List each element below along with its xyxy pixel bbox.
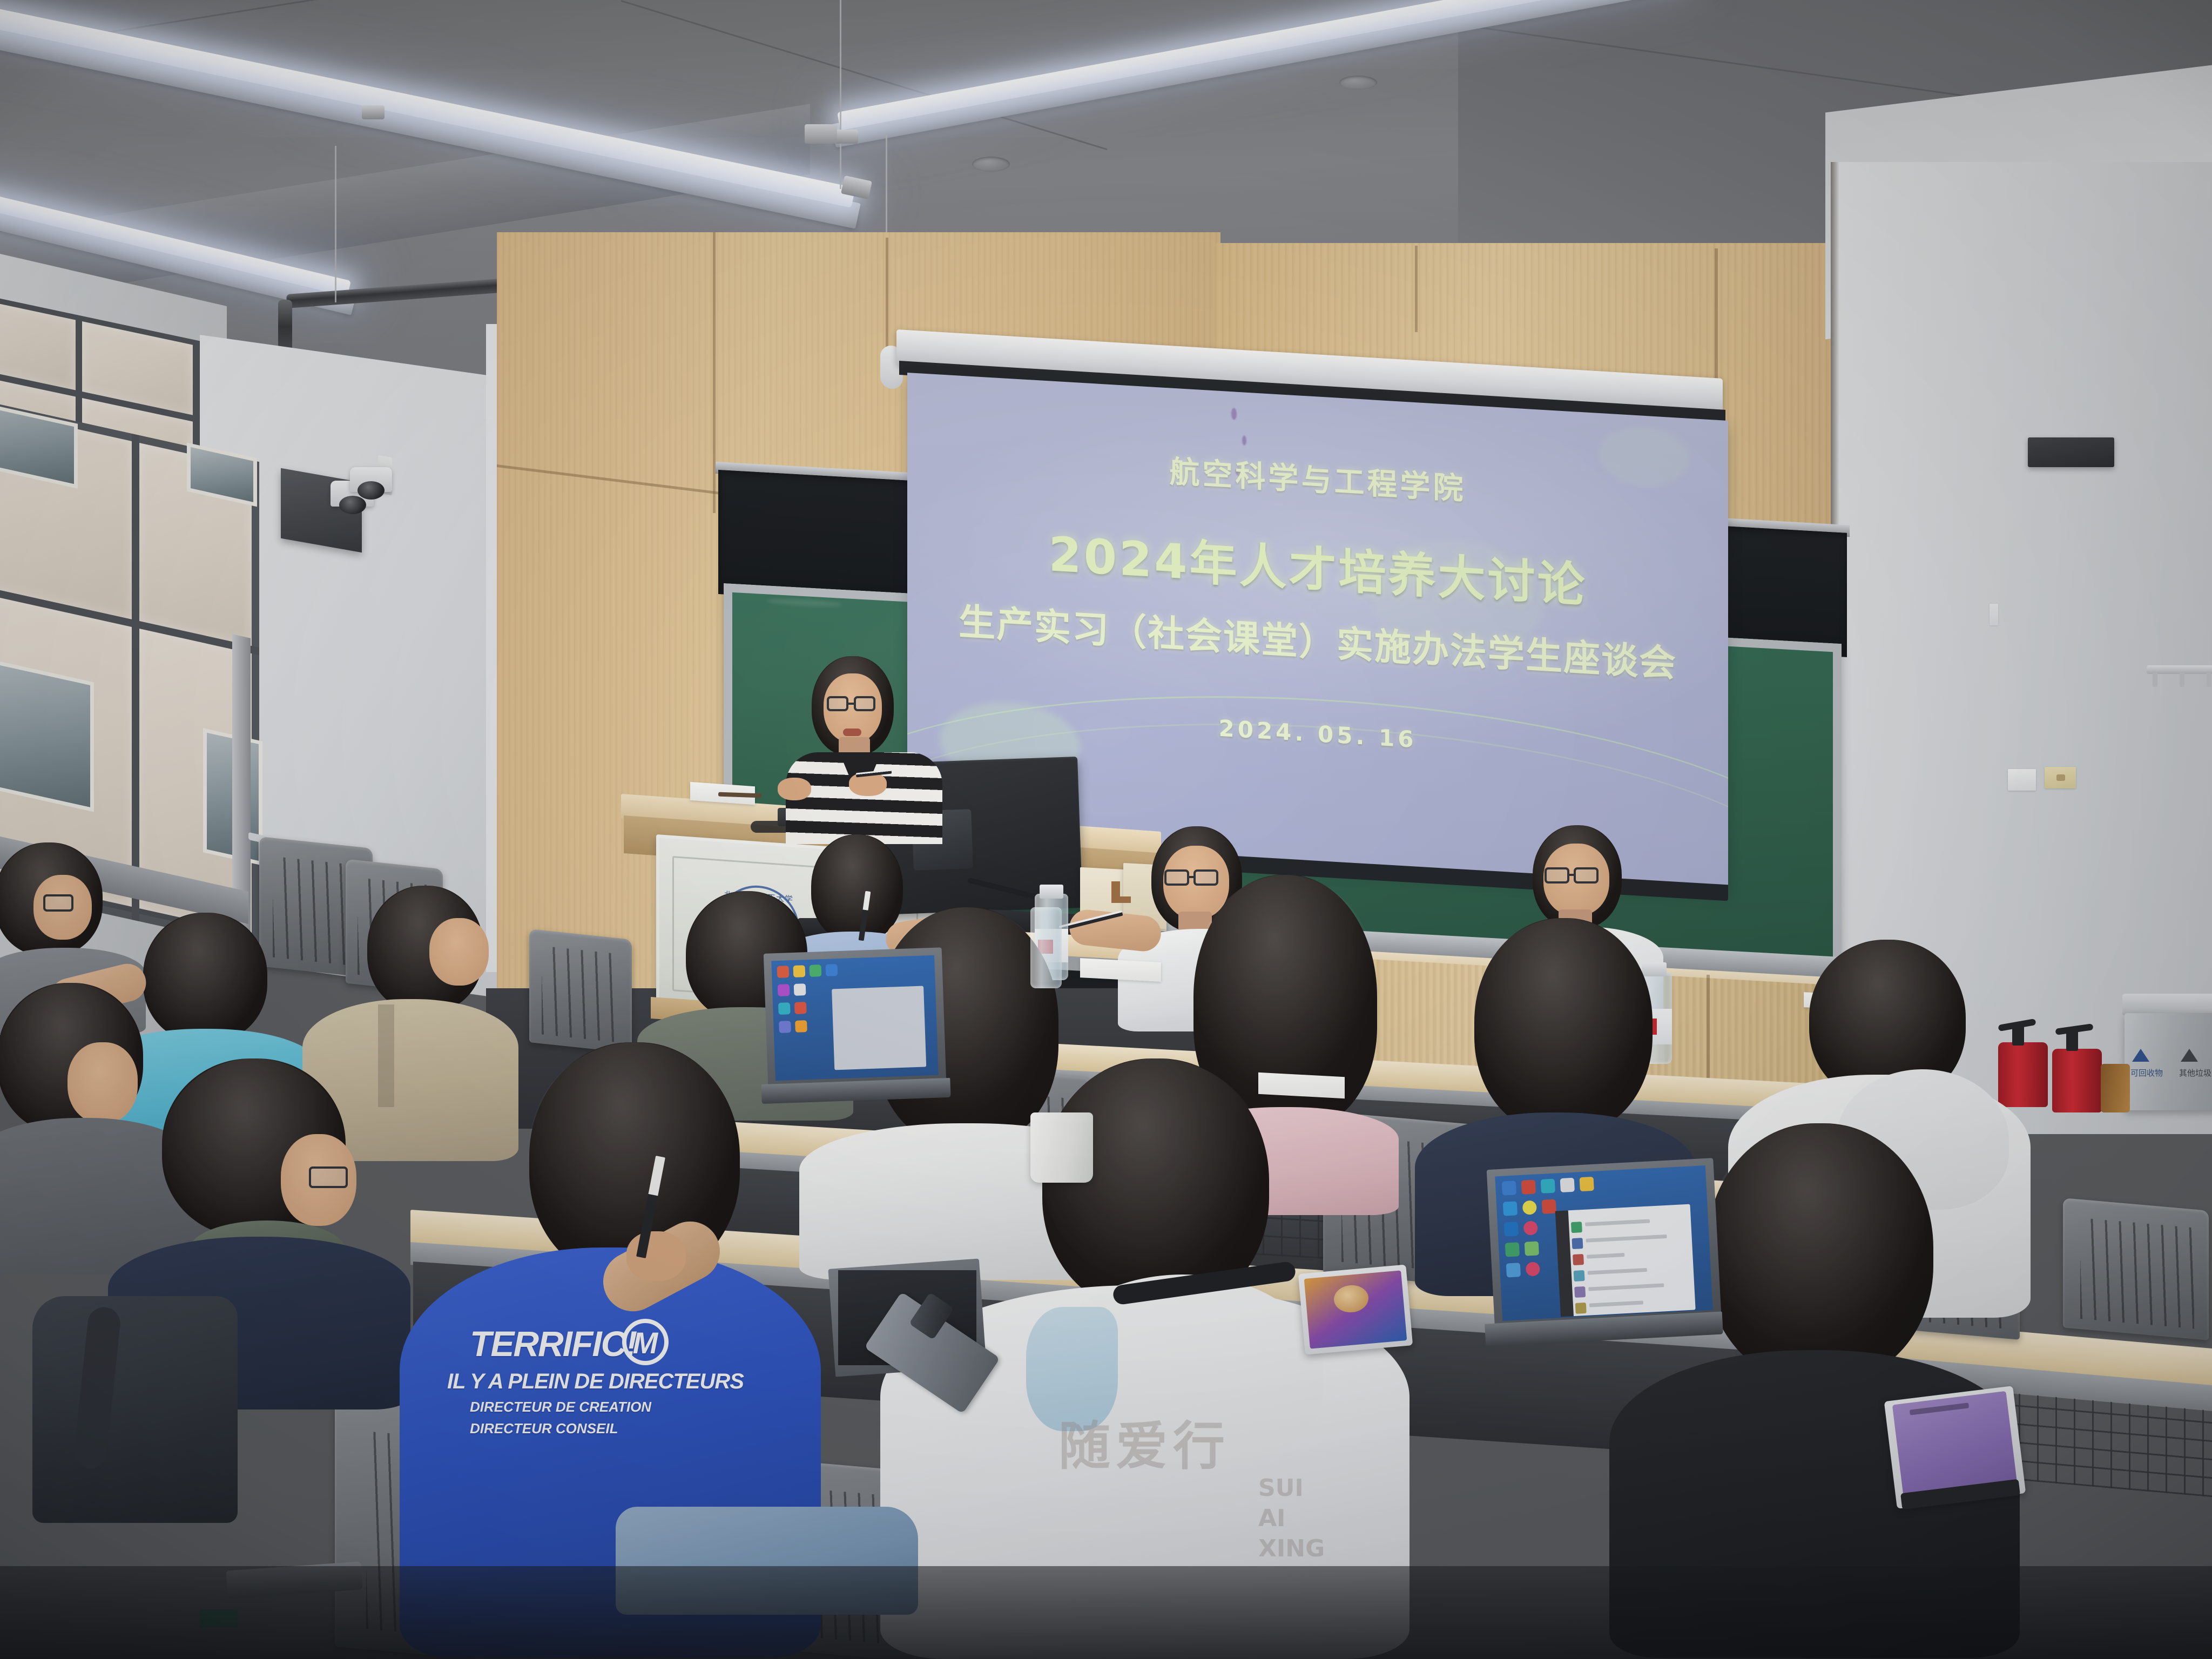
hair-highlight [1809, 940, 1966, 1091]
floor-bottom [0, 1566, 2212, 1659]
jacket-latin-2: AI [1258, 1505, 1285, 1532]
glasses-right [309, 1166, 348, 1188]
chat-row[interactable] [1587, 1253, 1624, 1259]
laptop-screen[interactable] [1495, 1165, 1712, 1321]
ceiling-access-plate [1339, 76, 1377, 90]
recycle-icon [2181, 1049, 2198, 1062]
paper-cup[interactable] [1030, 1112, 1093, 1183]
desktop-icon[interactable] [777, 966, 790, 978]
bin-label-right: 其他垃圾 [2175, 1067, 2212, 1078]
presenter-glasses-right [854, 696, 875, 711]
glasses-right [1574, 867, 1599, 884]
glasses-bridge [1568, 874, 1575, 876]
chat-avatar [1572, 1238, 1583, 1249]
desktop-icon[interactable] [1523, 1220, 1538, 1235]
jacket-latin-1: SUI [1258, 1474, 1304, 1502]
jacket-faint-chinese-text: 随爱行 [1058, 1404, 1230, 1479]
glasses-right [43, 894, 73, 912]
slide-speck [1242, 435, 1246, 445]
chat-avatar [1573, 1254, 1584, 1265]
shirt-text-line2: IL Y A PLEIN DE DIRECTEURS [447, 1370, 744, 1394]
amber-bottle [2101, 1064, 2130, 1112]
desktop-icon[interactable] [1526, 1262, 1540, 1276]
desktop-icon[interactable] [778, 984, 790, 996]
ceiling-hanger-wire [335, 146, 336, 302]
chair-slots [2080, 1218, 2194, 1329]
wall-switch-plate[interactable] [1990, 604, 1998, 625]
chat-row[interactable] [1586, 1235, 1667, 1243]
face [429, 918, 489, 986]
chat-row[interactable] [1588, 1268, 1647, 1275]
chat-app-window[interactable] [1566, 1204, 1696, 1317]
fire-extinguisher [2052, 1049, 2102, 1112]
desktop-icon[interactable] [778, 1002, 791, 1015]
student-hand [626, 1231, 686, 1281]
chat-row[interactable] [1588, 1283, 1664, 1291]
desktop-icon[interactable] [1502, 1181, 1516, 1195]
desktop-icon[interactable] [794, 1002, 807, 1014]
desktop-icon[interactable] [1560, 1178, 1575, 1192]
chair[interactable] [529, 929, 632, 1053]
coat-hook[interactable] [2153, 673, 2157, 687]
window-pane [0, 298, 76, 390]
ceiling-spotlight [834, 130, 858, 144]
jacket-latin-3: XING [1258, 1535, 1325, 1562]
bin-label-left: 可回收物 [2127, 1067, 2167, 1078]
desktop-icon[interactable] [1522, 1200, 1537, 1215]
chat-avatar [1575, 1303, 1587, 1314]
presenter-hand-left [778, 778, 811, 800]
classroom-photo: 航空科学与工程学院 2024年人才培养大讨论 生产实习（社会课堂）实施办法学生座… [0, 0, 2212, 1659]
window-pane [138, 443, 252, 646]
hair-highlight [1474, 918, 1653, 1112]
desktop-icon[interactable] [779, 1021, 791, 1033]
desktop-icon[interactable] [1505, 1242, 1520, 1257]
chair-slots [542, 946, 622, 1043]
ceiling-access-plate [972, 157, 1010, 172]
recycle-bin [2125, 1013, 2212, 1110]
chat-avatar [1571, 1222, 1582, 1233]
recycle-bin-lid[interactable] [2122, 994, 2212, 1015]
slide-speck [1231, 408, 1237, 420]
desktop-icon[interactable] [1521, 1180, 1536, 1195]
desktop-icon[interactable] [1525, 1241, 1539, 1256]
bottle-cap [1040, 885, 1063, 899]
shirt-text-line1: TERRIFIC! [470, 1323, 636, 1364]
dome-camera-lens [358, 481, 385, 500]
shirt-text-line3: DIRECTEUR DE CREATION [470, 1399, 651, 1415]
presenter [786, 656, 942, 834]
dome-camera-body [350, 467, 392, 492]
presenter-mouth [843, 729, 861, 736]
desktop-icon[interactable] [1503, 1201, 1518, 1216]
laptop-screen[interactable] [771, 955, 939, 1081]
shirt-text-line4: DIRECTEUR CONSEIL [470, 1420, 618, 1437]
desktop-icon[interactable] [1541, 1179, 1555, 1193]
desktop-icon[interactable] [826, 964, 838, 976]
desktop-icon[interactable] [794, 983, 806, 996]
wood-panel-seam [1415, 246, 1418, 332]
outlet-detail [2056, 774, 2065, 781]
chat-avatar [1574, 1286, 1586, 1298]
desktop-icon[interactable] [1504, 1222, 1519, 1236]
ceiling-mount-box [805, 124, 837, 144]
chat-avatar [1574, 1270, 1585, 1282]
exterior-building-window [0, 652, 94, 812]
desktop-icon[interactable] [795, 1020, 807, 1033]
recycle-icon [2132, 1049, 2149, 1062]
chat-row[interactable] [1585, 1219, 1650, 1226]
hair-highlight [529, 1042, 740, 1258]
wall-speaker [2028, 437, 2114, 467]
desk-paper [1258, 1073, 1345, 1098]
backpack [32, 1296, 238, 1523]
desktop-icon[interactable] [793, 965, 806, 977]
ceiling-spotlight [362, 105, 385, 119]
hair-highlight [1707, 1123, 1933, 1350]
coat-hook[interactable] [2207, 673, 2211, 687]
chat-row[interactable] [1589, 1300, 1643, 1307]
desktop-icon[interactable] [1580, 1177, 1594, 1191]
ceiling-hanger-wire [840, 0, 841, 189]
window-pane [0, 409, 132, 619]
laptop-window [832, 986, 926, 1070]
chalk-smudge [767, 597, 842, 608]
presenter-glasses-bridge [847, 703, 855, 705]
desktop-icon[interactable] [1506, 1263, 1521, 1277]
desktop-icon[interactable] [810, 965, 822, 977]
desktop-icon[interactable] [1542, 1199, 1556, 1214]
glasses-left [1545, 867, 1569, 884]
shirt-badge-letter: M [622, 1325, 669, 1360]
coat-hook[interactable] [2180, 673, 2184, 687]
chair[interactable] [2063, 1198, 2209, 1340]
water-bottle[interactable] [1030, 907, 1062, 988]
presenter-glasses-left [827, 696, 848, 711]
wall-switch-plate[interactable] [2008, 769, 2036, 791]
dome-camera-lens [339, 496, 366, 514]
wood-panel-seam [886, 238, 888, 362]
